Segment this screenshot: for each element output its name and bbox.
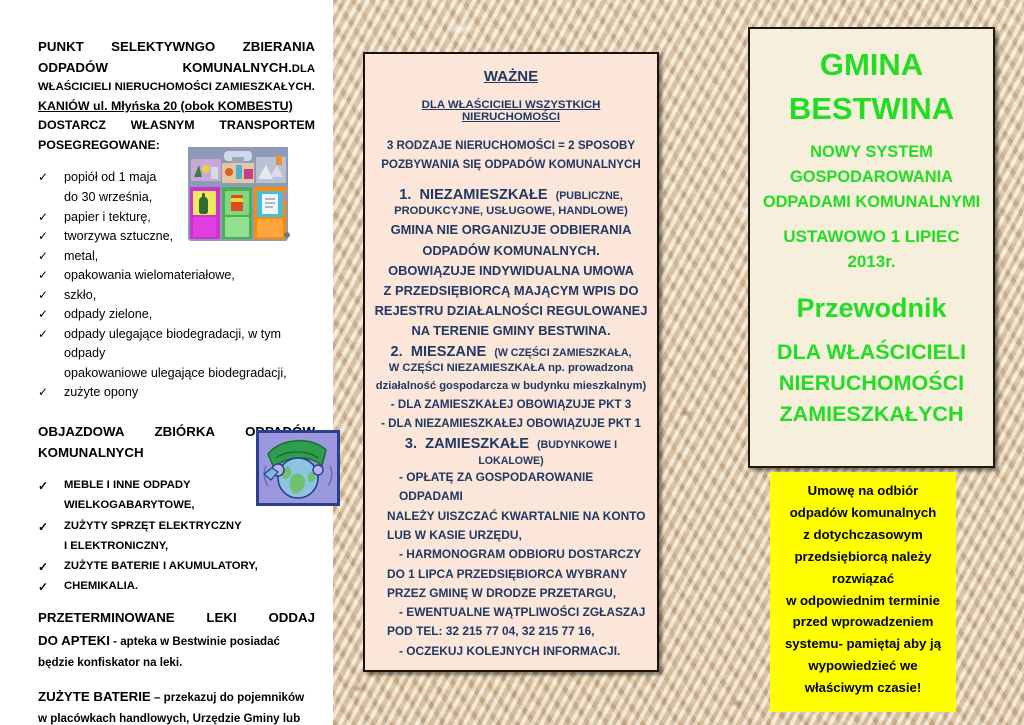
heading-line-3: DLA [292,63,315,75]
list-item: ✓opakowaniowe ulegające biodegradacji, [38,364,315,384]
notice-line: systemu- pamiętaj aby ją [776,633,950,655]
important-title: WAŻNE [373,68,649,85]
notice-line: w odpowiednim terminie [776,590,950,612]
spacer [760,131,983,140]
spacer [760,215,983,224]
property-type-1: 1. NIEZAMIESZKAŁE (PUBLICZNE, [373,187,649,203]
system-line-3: ODPADAMI KOMUNALNYMI [760,190,983,215]
list-item: ✓szkło, [38,286,315,306]
list-item: ✓odpady zielone, [38,305,315,325]
check-icon: ✓ [38,476,64,496]
recycling-bins-icon [184,143,294,247]
guide-title: Przewodnik [760,290,983,328]
important-intro: 3 RODZAJE NIERUCHOMOŚCI = 2 SPOSOBY POZB… [373,137,649,175]
important-info-box: WAŻNE DLA WŁAŚCICIELI WSZYSTKICH NIERUCH… [363,52,659,672]
collection-point-heading: PUNKT SELEKTYWNGO ZBIERANIA ODPADÓW KOMU… [38,36,315,155]
property-type-2-dash1: - DLA ZAMIESZKAŁEJ OBOWIĄZUJE PKT 3 [373,396,649,415]
check-icon: ✓ [38,325,64,344]
commune-title-box: GMINA BESTWINA NOWY SYSTEM GOSPODAROWANI… [748,27,995,468]
notice-line: przedsiębiorcą należy [776,546,950,568]
check-icon: ✓ [38,247,64,266]
list-item: ✓CHEMIKALIA. [38,577,315,597]
system-line-1: NOWY SYSTEM [760,140,983,165]
check-icon: ✓ [38,227,64,246]
check-icon: ✓ [38,208,64,227]
system-line-2: GOSPODAROWANIA [760,165,983,190]
heading-line-4: WŁAŚCICIELI NIERUCHOMOŚCI ZAMIESZKAŁYCH. [38,79,315,97]
list-item: ✓opakowania wielomateriałowe, [38,266,315,286]
list-item: ✓odpady ulegające biodegradacji, w tym o… [38,325,315,364]
check-icon: ✓ [38,305,64,324]
list-item: ✓I ELEKTRONICZNY, [38,537,315,557]
property-type-2: 2. MIESZANE (W CZĘŚCI ZAMIESZKAŁA, [373,344,649,360]
important-subtitle: DLA WŁAŚCICIELI WSZYSTKICH NIERUCHOMOŚCI [373,99,649,123]
notice-line: odpadów komunalnych [776,502,950,524]
law-date-line: USTAWOWO 1 LIPIEC 2013r. [760,224,983,275]
check-icon: ✓ [38,383,64,402]
owners-line-3: ZAMIESZKAŁYCH [760,399,983,430]
owners-line-2: NIERUCHOMOŚCI [760,368,983,399]
spacer [760,328,983,337]
notice-line: właściwym czasie! [776,677,950,699]
heading-line-6: DOSTARCZ WŁASNYM TRANSPORTEM [38,116,315,136]
spacer [760,275,983,290]
heading-line-1: PUNKT SELEKTYWNGO ZBIERANIA [38,36,315,57]
contract-notice-box: Umowę na odbiór odpadów komunalnych z do… [770,472,956,712]
property-type-1-paren2: PRODUKCYJNE, USŁUGOWE, HANDLOWE) [373,203,649,221]
list-item: ✓zużyte opony [38,383,315,403]
check-icon: ✓ [38,266,64,285]
check-icon: ✓ [38,577,64,597]
check-icon: ✓ [38,168,64,187]
heading-line-2: ODPADÓW KOMUNALNYCH. [38,60,292,75]
medicines-text: DO APTEKI - apteka w Bestwinie posiadać [38,630,315,652]
heading-line-address: KANIÓW ul. Młyńska 20 (obok KOMBESTU) [38,97,315,117]
owners-line-1: DLA WŁAŚCICIELI [760,337,983,368]
batteries-text: ZUŻYTE BATERIE – przekazuj do pojemników [38,686,315,708]
notice-line: wypowiedzieć we [776,655,950,677]
notice-line: Umowę na odbiór [776,480,950,502]
property-type-3-details: - OPŁATĘ ZA GOSPODAROWANIE ODPADAMI NALE… [373,468,649,661]
check-icon: ✓ [38,286,64,305]
property-type-2-paren2: W CZĘŚCI NIEZAMIESZKAŁA np. prowadzona [373,360,649,378]
property-type-2-dash2: - DLA NIEZAMIESZKAŁEJ OBOWIĄZUJE PKT 1 [373,415,649,434]
property-type-2-paren3: działalność gospodarcza w budynku mieszk… [373,378,649,396]
list-item: ✓ZUŻYTE BATERIE I AKUMULATORY, [38,557,315,577]
list-item: ✓ZUŻYTY SPRZĘT ELEKTRYCZNY [38,517,315,537]
list-item: ✓metal, [38,247,315,267]
medicines-heading: PRZETERMINOWANE LEKI ODDAJ [38,607,315,628]
notice-line: rozwiązać [776,568,950,590]
property-type-1-body: GMINA NIE ORGANIZUJE ODBIERANIA ODPADÓW … [373,220,649,341]
commune-name-line1: GMINA [760,43,983,87]
left-content-column: PUNKT SELEKTYWNGO ZBIERANIA ODPADÓW KOMU… [0,0,333,725]
batteries-text-line2: w placówkach handlowych, Urzędzie Gminy … [38,710,315,725]
notice-line: przed wprowadzeniem [776,611,950,633]
check-icon: ✓ [38,517,64,537]
notice-line: z dotychczasowym [776,524,950,546]
medicines-text-line2: będzie konfiskator na leki. [38,654,315,673]
globe-recycling-icon [254,428,342,508]
commune-name-line2: BESTWINA [760,87,983,131]
property-type-3: 3. ZAMIESZKAŁE (BUDYNKOWE I LOKALOWE) [373,436,649,468]
check-icon: ✓ [38,557,64,577]
